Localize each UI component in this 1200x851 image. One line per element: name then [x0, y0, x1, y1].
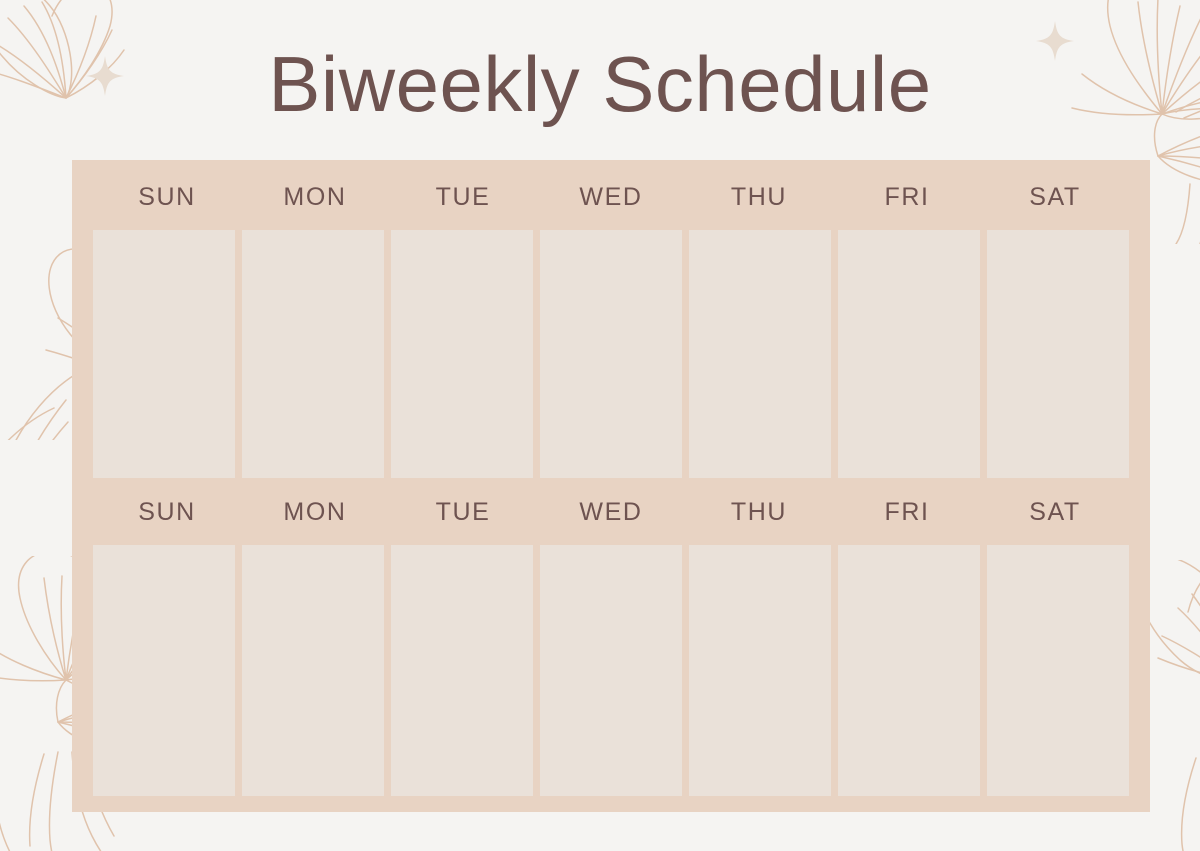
day-header-fri: FRI: [833, 479, 981, 545]
day-cell-thu[interactable]: [689, 230, 831, 478]
day-header-tue: TUE: [389, 164, 537, 230]
day-cell-mon[interactable]: [242, 230, 384, 478]
day-header-sat: SAT: [981, 164, 1129, 230]
schedule-page: Biweekly Schedule SUN MON TUE WED THU FR…: [0, 0, 1200, 851]
day-cell-sun[interactable]: [93, 545, 235, 796]
day-cell-mon[interactable]: [242, 545, 384, 796]
day-header-sun: SUN: [93, 479, 241, 545]
day-header-row-week-2: SUN MON TUE WED THU FRI SAT: [72, 479, 1150, 545]
day-cell-sun[interactable]: [93, 230, 235, 478]
day-header-mon: MON: [241, 479, 389, 545]
day-header-thu: THU: [685, 164, 833, 230]
day-cell-wed[interactable]: [540, 230, 682, 478]
day-cell-tue[interactable]: [391, 545, 533, 796]
biweekly-calendar-panel: SUN MON TUE WED THU FRI SAT SUN MO: [72, 160, 1150, 812]
day-header-wed: WED: [537, 164, 685, 230]
day-cell-thu[interactable]: [689, 545, 831, 796]
day-cell-fri[interactable]: [838, 545, 980, 796]
week-block-1: SUN MON TUE WED THU FRI SAT: [72, 160, 1150, 478]
day-header-row-week-1: SUN MON TUE WED THU FRI SAT: [72, 164, 1150, 230]
day-header-mon: MON: [241, 164, 389, 230]
day-cells-row-week-2: [72, 545, 1150, 796]
day-header-tue: TUE: [389, 479, 537, 545]
page-title: Biweekly Schedule: [0, 40, 1200, 130]
day-header-sun: SUN: [93, 164, 241, 230]
day-header-wed: WED: [537, 479, 685, 545]
day-cells-row-week-1: [72, 230, 1150, 478]
day-cell-sat[interactable]: [987, 230, 1129, 478]
day-cell-tue[interactable]: [391, 230, 533, 478]
day-cell-wed[interactable]: [540, 545, 682, 796]
day-cell-sat[interactable]: [987, 545, 1129, 796]
week-block-2: SUN MON TUE WED THU FRI SAT: [72, 478, 1150, 796]
day-header-thu: THU: [685, 479, 833, 545]
day-header-fri: FRI: [833, 164, 981, 230]
day-header-sat: SAT: [981, 479, 1129, 545]
day-cell-fri[interactable]: [838, 230, 980, 478]
